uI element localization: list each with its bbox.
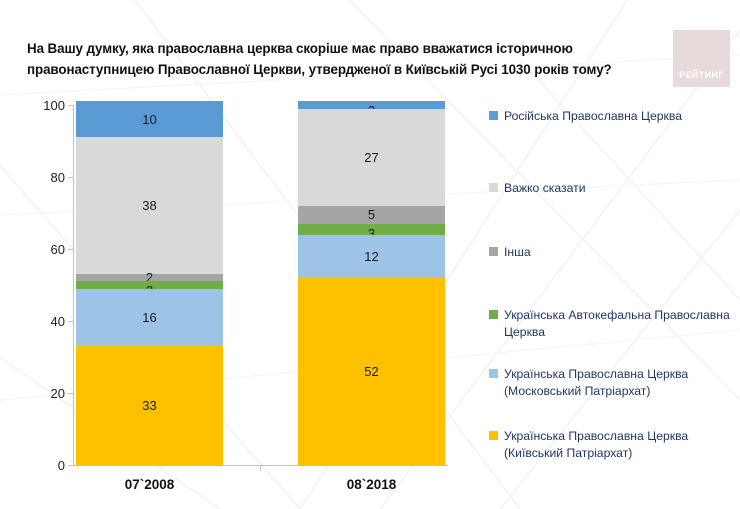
x-axis-label-2008: 07`2008 (76, 477, 223, 492)
legend-swatch-icon (489, 183, 498, 192)
legend-item-label: Російська Православна Церква (504, 108, 682, 125)
bar-segment-value: 38 (142, 199, 156, 212)
bar-segment-hard-to-say[interactable]: 27 (298, 109, 445, 206)
x-axis-tick (260, 465, 261, 471)
legend-item-label: Українська Православна Церква (Київський… (504, 428, 688, 462)
legend-item-label: Інша (504, 244, 531, 261)
bar-segment-uoc-moscow-patriarchate[interactable]: 12 (298, 235, 445, 278)
legend-item-russian-orthodox-church[interactable]: Російська Православна Церква (489, 108, 682, 125)
legend-item-other[interactable]: Інша (489, 244, 531, 261)
bar-segment-value: 52 (364, 365, 378, 378)
rating-logo: РЕЙТИНГ (673, 30, 730, 87)
legend-swatch-icon (489, 111, 498, 120)
legend-swatch-icon (489, 310, 498, 319)
legend-item-label: Важко сказати (504, 180, 586, 197)
bar-segment-uaoc[interactable]: 2 (76, 281, 223, 288)
bar-segment-hard-to-say[interactable]: 38 (76, 137, 223, 274)
rating-logo-text: РЕЙТИНГ (673, 70, 730, 80)
bar-segment-value: 12 (364, 250, 378, 263)
bar-segment-uoc-kyiv-patriarchate[interactable]: 33 (76, 346, 223, 465)
bar-segment-value: 27 (364, 151, 378, 164)
legend-item-uoc-kyiv-patriarchate[interactable]: Українська Православна Церква (Київський… (489, 428, 688, 462)
chart-title-container: На Вашу думку, яка православна церква ск… (27, 38, 657, 80)
bar-segment-uoc-moscow-patriarchate[interactable]: 16 (76, 289, 223, 347)
legend-item-uoc-moscow-patriarchate[interactable]: Українська Православна Церква (Московськ… (489, 366, 688, 400)
y-axis-line (73, 105, 74, 465)
bar-segment-value: 33 (142, 399, 156, 412)
x-axis-label-2018: 08`2018 (298, 477, 445, 492)
y-tick-label: 0 (25, 459, 65, 472)
legend-swatch-icon (489, 247, 498, 256)
stacked-bar-2008[interactable]: 10 38 2 2 16 33 (76, 101, 223, 465)
bar-segment-uaoc[interactable]: 3 (298, 224, 445, 235)
stacked-bar-2018[interactable]: 2 27 5 3 12 52 (298, 101, 445, 465)
legend-item-uaoc[interactable]: Українська Автокефальна Православна Церк… (489, 307, 730, 341)
bar-segment-other[interactable]: 5 (298, 206, 445, 224)
legend-item-hard-to-say[interactable]: Важко сказати (489, 180, 586, 197)
y-tick-label: 60 (25, 243, 65, 256)
bar-segment-uoc-kyiv-patriarchate[interactable]: 52 (298, 278, 445, 465)
legend-item-label: Українська Православна Церква (Московськ… (504, 366, 688, 400)
bar-segment-russian-orthodox-church[interactable]: 10 (76, 101, 223, 137)
legend-item-label: Українська Автокефальна Православна Церк… (504, 307, 730, 341)
chart-plot-area: 100 80 60 40 20 0 10 38 2 2 (73, 105, 448, 465)
y-tick-label: 40 (25, 315, 65, 328)
bar-segment-other[interactable]: 2 (76, 274, 223, 281)
y-tick-label: 100 (25, 99, 65, 112)
bar-segment-russian-orthodox-church[interactable]: 2 (298, 101, 445, 108)
page-title: На Вашу думку, яка православна церква ск… (27, 38, 657, 80)
legend-swatch-icon (489, 431, 498, 440)
legend-swatch-icon (489, 369, 498, 378)
y-tick-label: 80 (25, 171, 65, 184)
bar-segment-value: 16 (142, 311, 156, 324)
bar-segment-value: 5 (368, 208, 375, 221)
y-tick-label: 20 (25, 387, 65, 400)
bar-segment-value: 10 (142, 113, 156, 126)
